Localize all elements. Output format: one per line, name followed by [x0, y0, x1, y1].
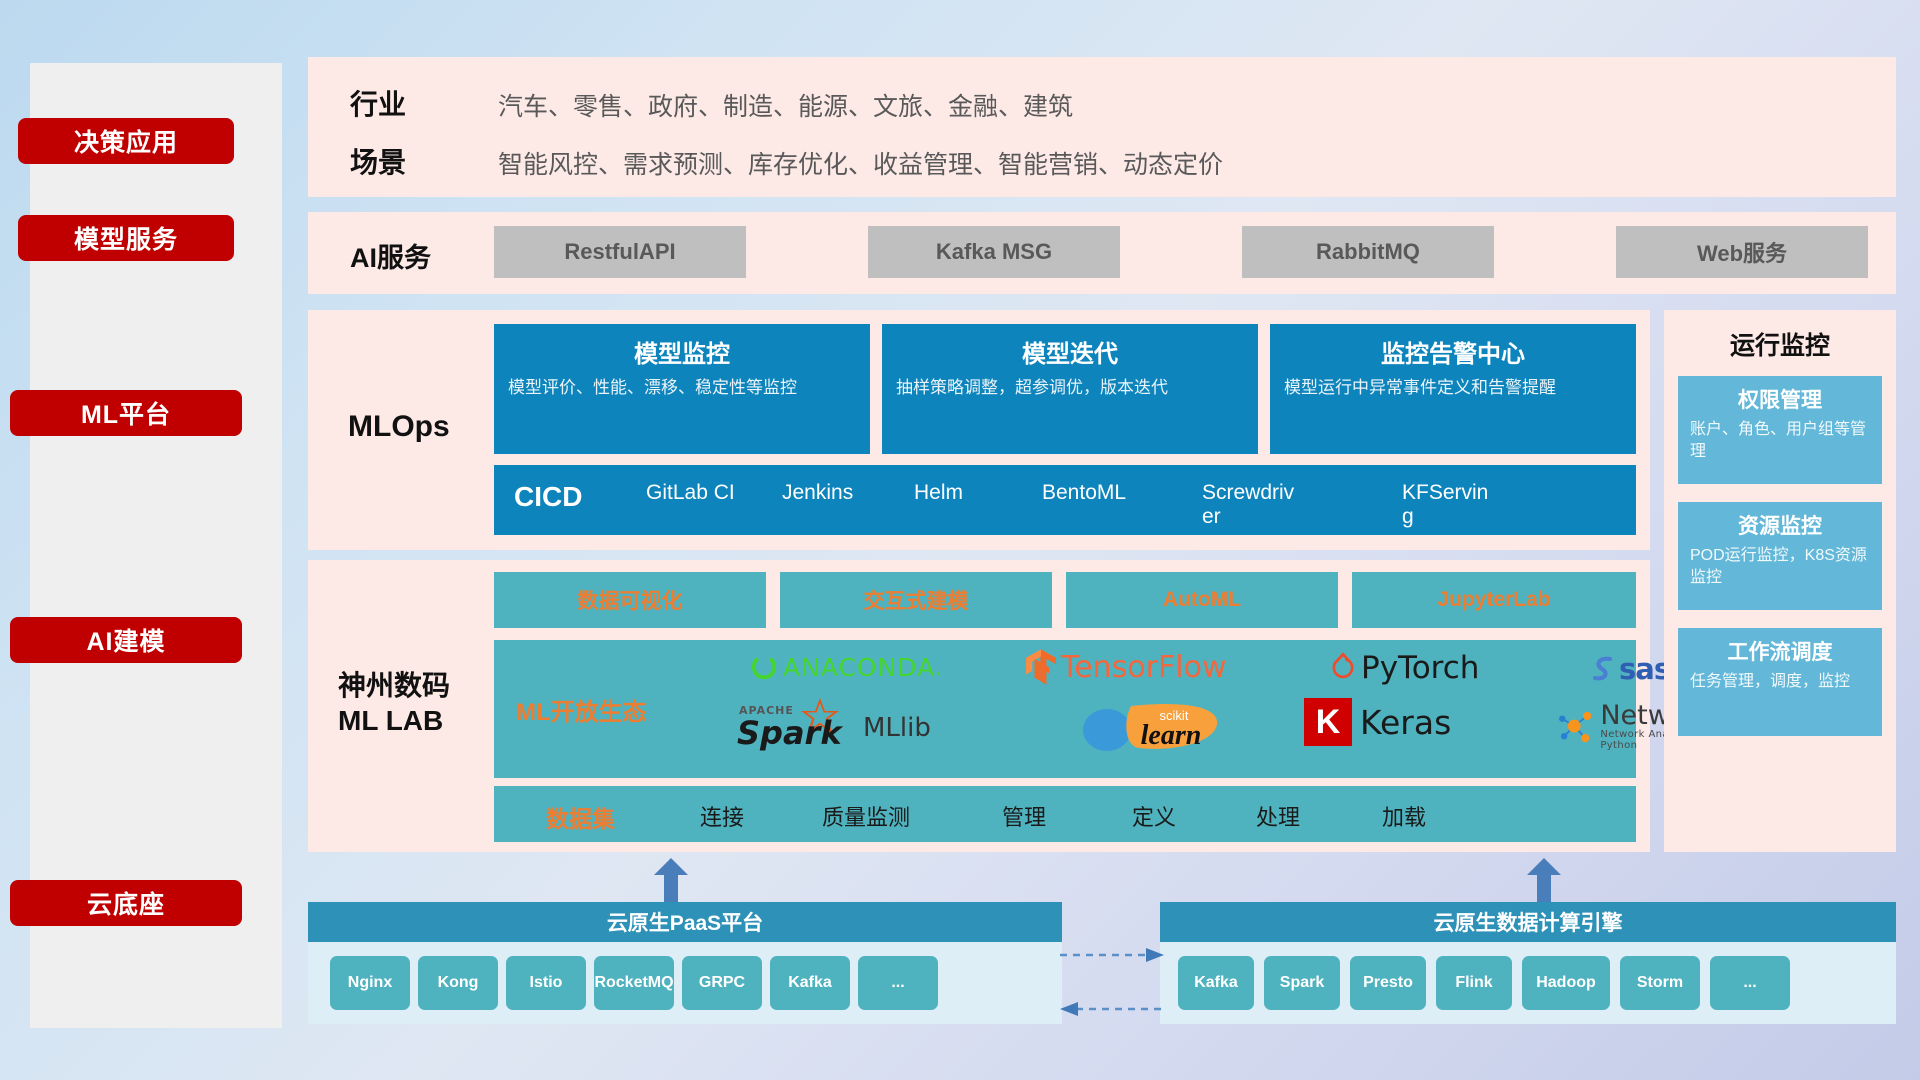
cloud-chip-spark[interactable]: Spark: [1264, 956, 1340, 1010]
monitor-card-desc: 账户、角色、用户组等管理: [1690, 419, 1870, 462]
stage-pill-decision[interactable]: 决策应用: [18, 118, 234, 164]
monitoring-title: 运行监控: [1664, 326, 1896, 362]
cloud-chip-kafka[interactable]: Kafka: [770, 956, 850, 1010]
monitor-card-workflow[interactable]: 工作流调度 任务管理，调度，监控: [1678, 628, 1882, 736]
ml-ecosystem-label: ML开放生态: [516, 692, 647, 727]
service-chip-rabbitmq[interactable]: RabbitMQ: [1242, 226, 1494, 278]
tensorflow-logo: TensorFlow: [1024, 648, 1227, 686]
cloud-chip-istio[interactable]: Istio: [506, 956, 586, 1010]
pytorch-logo: PyTorch: [1329, 650, 1479, 686]
svg-text:learn: learn: [1141, 720, 1202, 751]
industry-label: 行业: [350, 83, 406, 123]
cloud-chip-more[interactable]: ...: [858, 956, 938, 1010]
cloud-chip-kong[interactable]: Kong: [418, 956, 498, 1010]
cicd-item-gitlab-ci[interactable]: GitLab CI: [646, 481, 742, 505]
tool-chip-jupyterlab[interactable]: JupyterLab: [1352, 572, 1636, 628]
dashed-arrow-left: [1060, 1000, 1164, 1023]
industry-list: 汽车、零售、政府、制造、能源、文旅、金融、建筑: [498, 87, 1073, 123]
ai-service-label: AI服务: [350, 236, 431, 275]
ml-lab-label-cn: 神州数码: [338, 670, 450, 701]
stage-label: AI建模: [86, 622, 165, 658]
ops-card-title: 监控告警中心: [1284, 334, 1622, 369]
cloud-paas-group: 云原生PaaS平台 Nginx Kong Istio RocketMQ GRPC…: [308, 902, 1062, 1024]
scenario-label: 场景: [350, 141, 406, 181]
cicd-item-bentoml[interactable]: BentoML: [1042, 481, 1138, 505]
dataset-item-process[interactable]: 处理: [1256, 800, 1300, 832]
monitor-card-title: 资源监控: [1690, 510, 1870, 540]
ml-ecosystem-box: ML开放生态 ANACONDA. TensorFlow PyTorch: [494, 640, 1636, 778]
ops-card-title: 模型监控: [508, 334, 856, 369]
monitoring-panel: 运行监控 权限管理 账户、角色、用户组等管理 资源监控 POD运行监控，K8S资…: [1664, 310, 1896, 852]
cloud-chip-kafka-2[interactable]: Kafka: [1178, 956, 1254, 1010]
monitor-card-title: 工作流调度: [1690, 636, 1870, 666]
cloud-chip-more-2[interactable]: ...: [1710, 956, 1790, 1010]
monitor-card-permission[interactable]: 权限管理 账户、角色、用户组等管理: [1678, 376, 1882, 484]
cloud-chip-grpc[interactable]: GRPC: [682, 956, 762, 1010]
service-chip-kafka-msg[interactable]: Kafka MSG: [868, 226, 1120, 278]
dataset-item-manage[interactable]: 管理: [1002, 800, 1046, 832]
ml-lab-label: 神州数码 ML LAB: [338, 668, 450, 738]
cloud-paas-title: 云原生PaaS平台: [308, 902, 1062, 942]
cicd-item-kfserving[interactable]: KFServing: [1402, 481, 1498, 529]
cloud-chip-nginx[interactable]: Nginx: [330, 956, 410, 1010]
cicd-item-jenkins[interactable]: Jenkins: [782, 481, 878, 505]
up-arrow-paas: [654, 858, 688, 902]
cloud-chip-storm[interactable]: Storm: [1620, 956, 1700, 1010]
stage-pill-model-service[interactable]: 模型服务: [18, 215, 234, 261]
monitor-card-desc: 任务管理，调度，监控: [1690, 671, 1870, 693]
cicd-bar: CICD GitLab CI Jenkins Helm BentoML Scre…: [494, 465, 1636, 535]
cloud-chip-presto[interactable]: Presto: [1350, 956, 1426, 1010]
ml-lab-label-en: ML LAB: [338, 705, 443, 736]
stage-pill-ml-platform[interactable]: ML平台: [10, 390, 242, 436]
cicd-item-screwdriver[interactable]: Screwdriver: [1202, 481, 1298, 529]
mlops-label: MLOps: [348, 410, 450, 444]
cloud-chip-flink[interactable]: Flink: [1436, 956, 1512, 1010]
keras-logo: K Keras: [1304, 698, 1451, 746]
monitor-card-resource[interactable]: 资源监控 POD运行监控，K8S资源监控: [1678, 502, 1882, 610]
ops-card-alert-center[interactable]: 监控告警中心 模型运行中异常事件定义和告警提醒: [1270, 324, 1636, 454]
ops-card-desc: 模型评价、性能、漂移、稳定性等监控: [508, 377, 856, 400]
up-arrow-data-engine: [1527, 858, 1561, 902]
cicd-item-helm[interactable]: Helm: [914, 481, 1010, 505]
stage-label: 决策应用: [74, 123, 178, 159]
ops-card-model-monitoring[interactable]: 模型监控 模型评价、性能、漂移、稳定性等监控: [494, 324, 870, 454]
mlops-band: MLOps 模型监控 模型评价、性能、漂移、稳定性等监控 模型迭代 抽样策略调整…: [308, 310, 1650, 550]
monitor-card-desc: POD运行监控，K8S资源监控: [1690, 545, 1870, 588]
applications-band: 行业 汽车、零售、政府、制造、能源、文旅、金融、建筑 场景 智能风控、需求预测、…: [308, 57, 1896, 197]
dataset-item-define[interactable]: 定义: [1132, 800, 1176, 832]
stage-label: ML平台: [81, 395, 171, 431]
cloud-chip-rocketmq[interactable]: RocketMQ: [594, 956, 674, 1010]
ops-card-desc: 抽样策略调整，超参调优，版本迭代: [896, 377, 1244, 400]
dataset-item-connect[interactable]: 连接: [700, 800, 744, 832]
ai-modeling-band: 神州数码 ML LAB 数据可视化 交互式建模 AutoML JupyterLa…: [308, 560, 1650, 852]
sas-logo: sas: [1589, 652, 1670, 686]
dataset-title: 数据集: [546, 800, 615, 834]
dashed-arrow-right: [1060, 946, 1164, 969]
tool-chip-data-visualization[interactable]: 数据可视化: [494, 572, 766, 628]
ops-card-title: 模型迭代: [896, 334, 1244, 369]
dataset-item-quality[interactable]: 质量监测: [822, 800, 910, 832]
service-chip-restfulapi[interactable]: RestfulAPI: [494, 226, 746, 278]
stage-pill-cloud-base[interactable]: 云底座: [10, 880, 242, 926]
tool-chip-interactive-modeling[interactable]: 交互式建模: [780, 572, 1052, 628]
dataset-bar: 数据集 连接 质量监测 管理 定义 处理 加载: [494, 786, 1636, 842]
scenario-list: 智能风控、需求预测、库存优化、收益管理、智能营销、动态定价: [498, 145, 1223, 181]
anaconda-logo: ANACONDA.: [749, 652, 942, 682]
ops-card-desc: 模型运行中异常事件定义和告警提醒: [1284, 377, 1622, 400]
ai-service-band: AI服务 RestfulAPI Kafka MSG RabbitMQ Web服务: [308, 212, 1896, 294]
service-chip-web-service[interactable]: Web服务: [1616, 226, 1868, 278]
tool-chip-automl[interactable]: AutoML: [1066, 572, 1338, 628]
dataset-item-load[interactable]: 加载: [1382, 800, 1426, 832]
stage-pill-ai-modeling[interactable]: AI建模: [10, 617, 242, 663]
cicd-title: CICD: [514, 481, 582, 513]
stage-label: 模型服务: [74, 220, 178, 256]
cloud-data-engine-group: 云原生数据计算引擎 Kafka Spark Presto Flink Hadoo…: [1160, 902, 1896, 1024]
cloud-chip-hadoop[interactable]: Hadoop: [1522, 956, 1610, 1010]
stage-label: 云底座: [87, 885, 165, 921]
monitor-card-title: 权限管理: [1690, 384, 1870, 414]
spark-mllib-logo: APACHE Spark MLlib: [737, 702, 931, 754]
ops-card-model-iteration[interactable]: 模型迭代 抽样策略调整，超参调优，版本迭代: [882, 324, 1258, 454]
cloud-data-engine-title: 云原生数据计算引擎: [1160, 902, 1896, 942]
scikit-learn-logo: scikit learn: [1079, 698, 1229, 754]
